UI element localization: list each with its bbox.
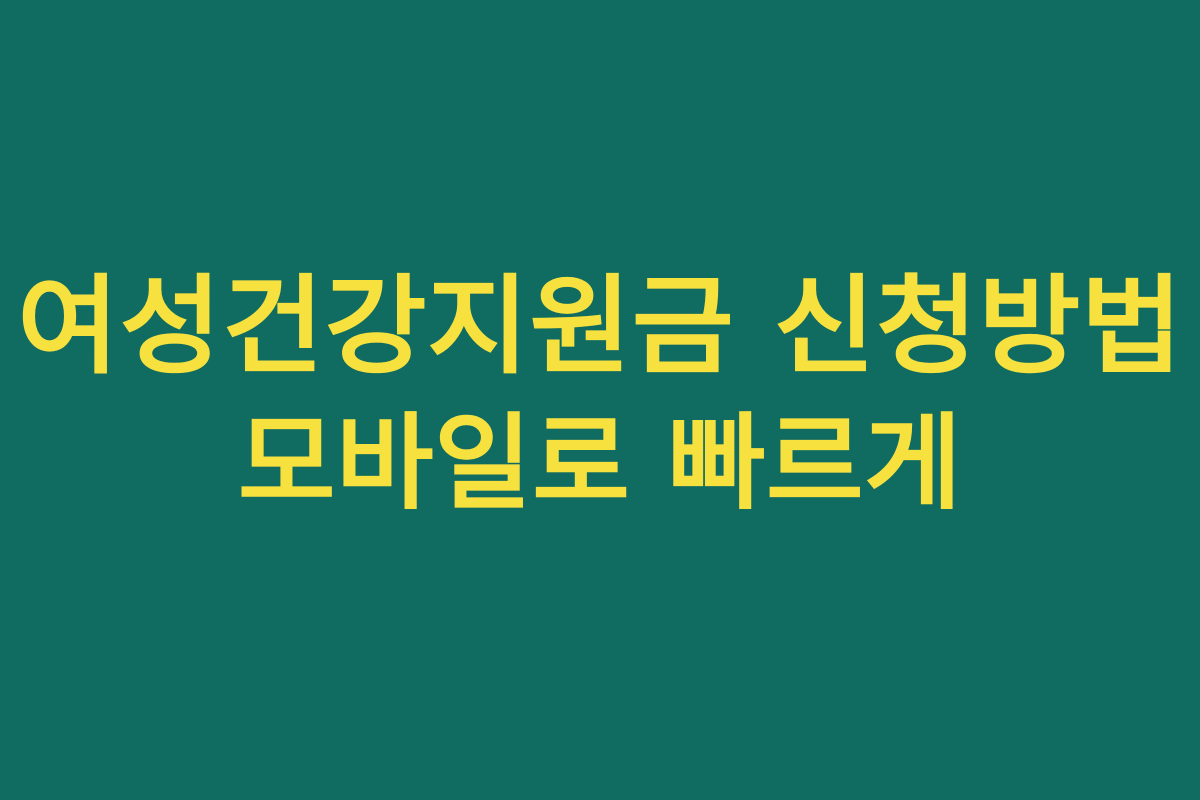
thumbnail-canvas: 여성건강지원금 신청방법 모바일로 빠르게	[0, 0, 1200, 800]
headline-line-2: 모바일로 빠르게	[238, 411, 962, 515]
headline-line-1: 여성건강지원금 신청방법	[17, 274, 1183, 381]
headline-block: 여성건강지원금 신청방법 모바일로 빠르게	[0, 274, 1200, 515]
